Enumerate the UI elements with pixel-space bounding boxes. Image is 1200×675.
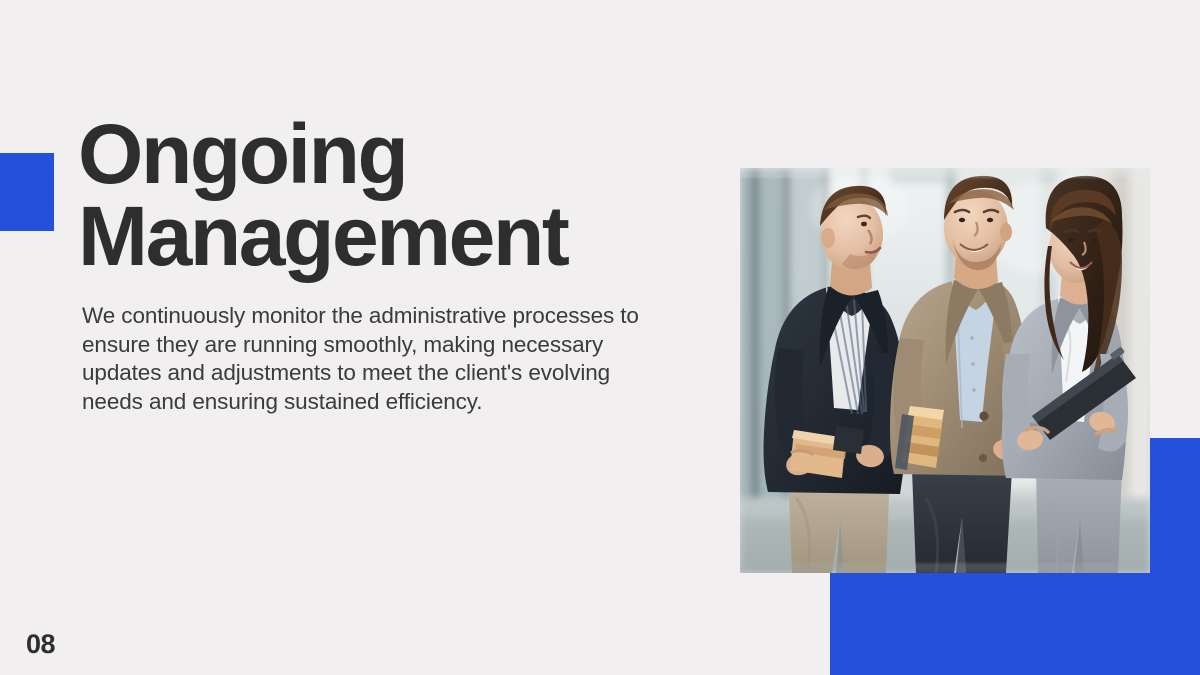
photo-illustration <box>740 168 1150 573</box>
blue-block-accent-bottom-right <box>830 573 1200 675</box>
slide-title: Ongoing Management <box>78 113 698 278</box>
office-team-photo <box>740 168 1150 573</box>
slide-canvas: Ongoing Management We continuously monit… <box>0 0 1200 675</box>
slide-photo <box>740 168 1150 573</box>
blue-square-accent-left <box>0 153 54 231</box>
page-number: 08 <box>26 629 55 660</box>
blue-column-accent-right <box>1148 438 1200 675</box>
slide-body-text: We continuously monitor the administrati… <box>82 302 642 416</box>
